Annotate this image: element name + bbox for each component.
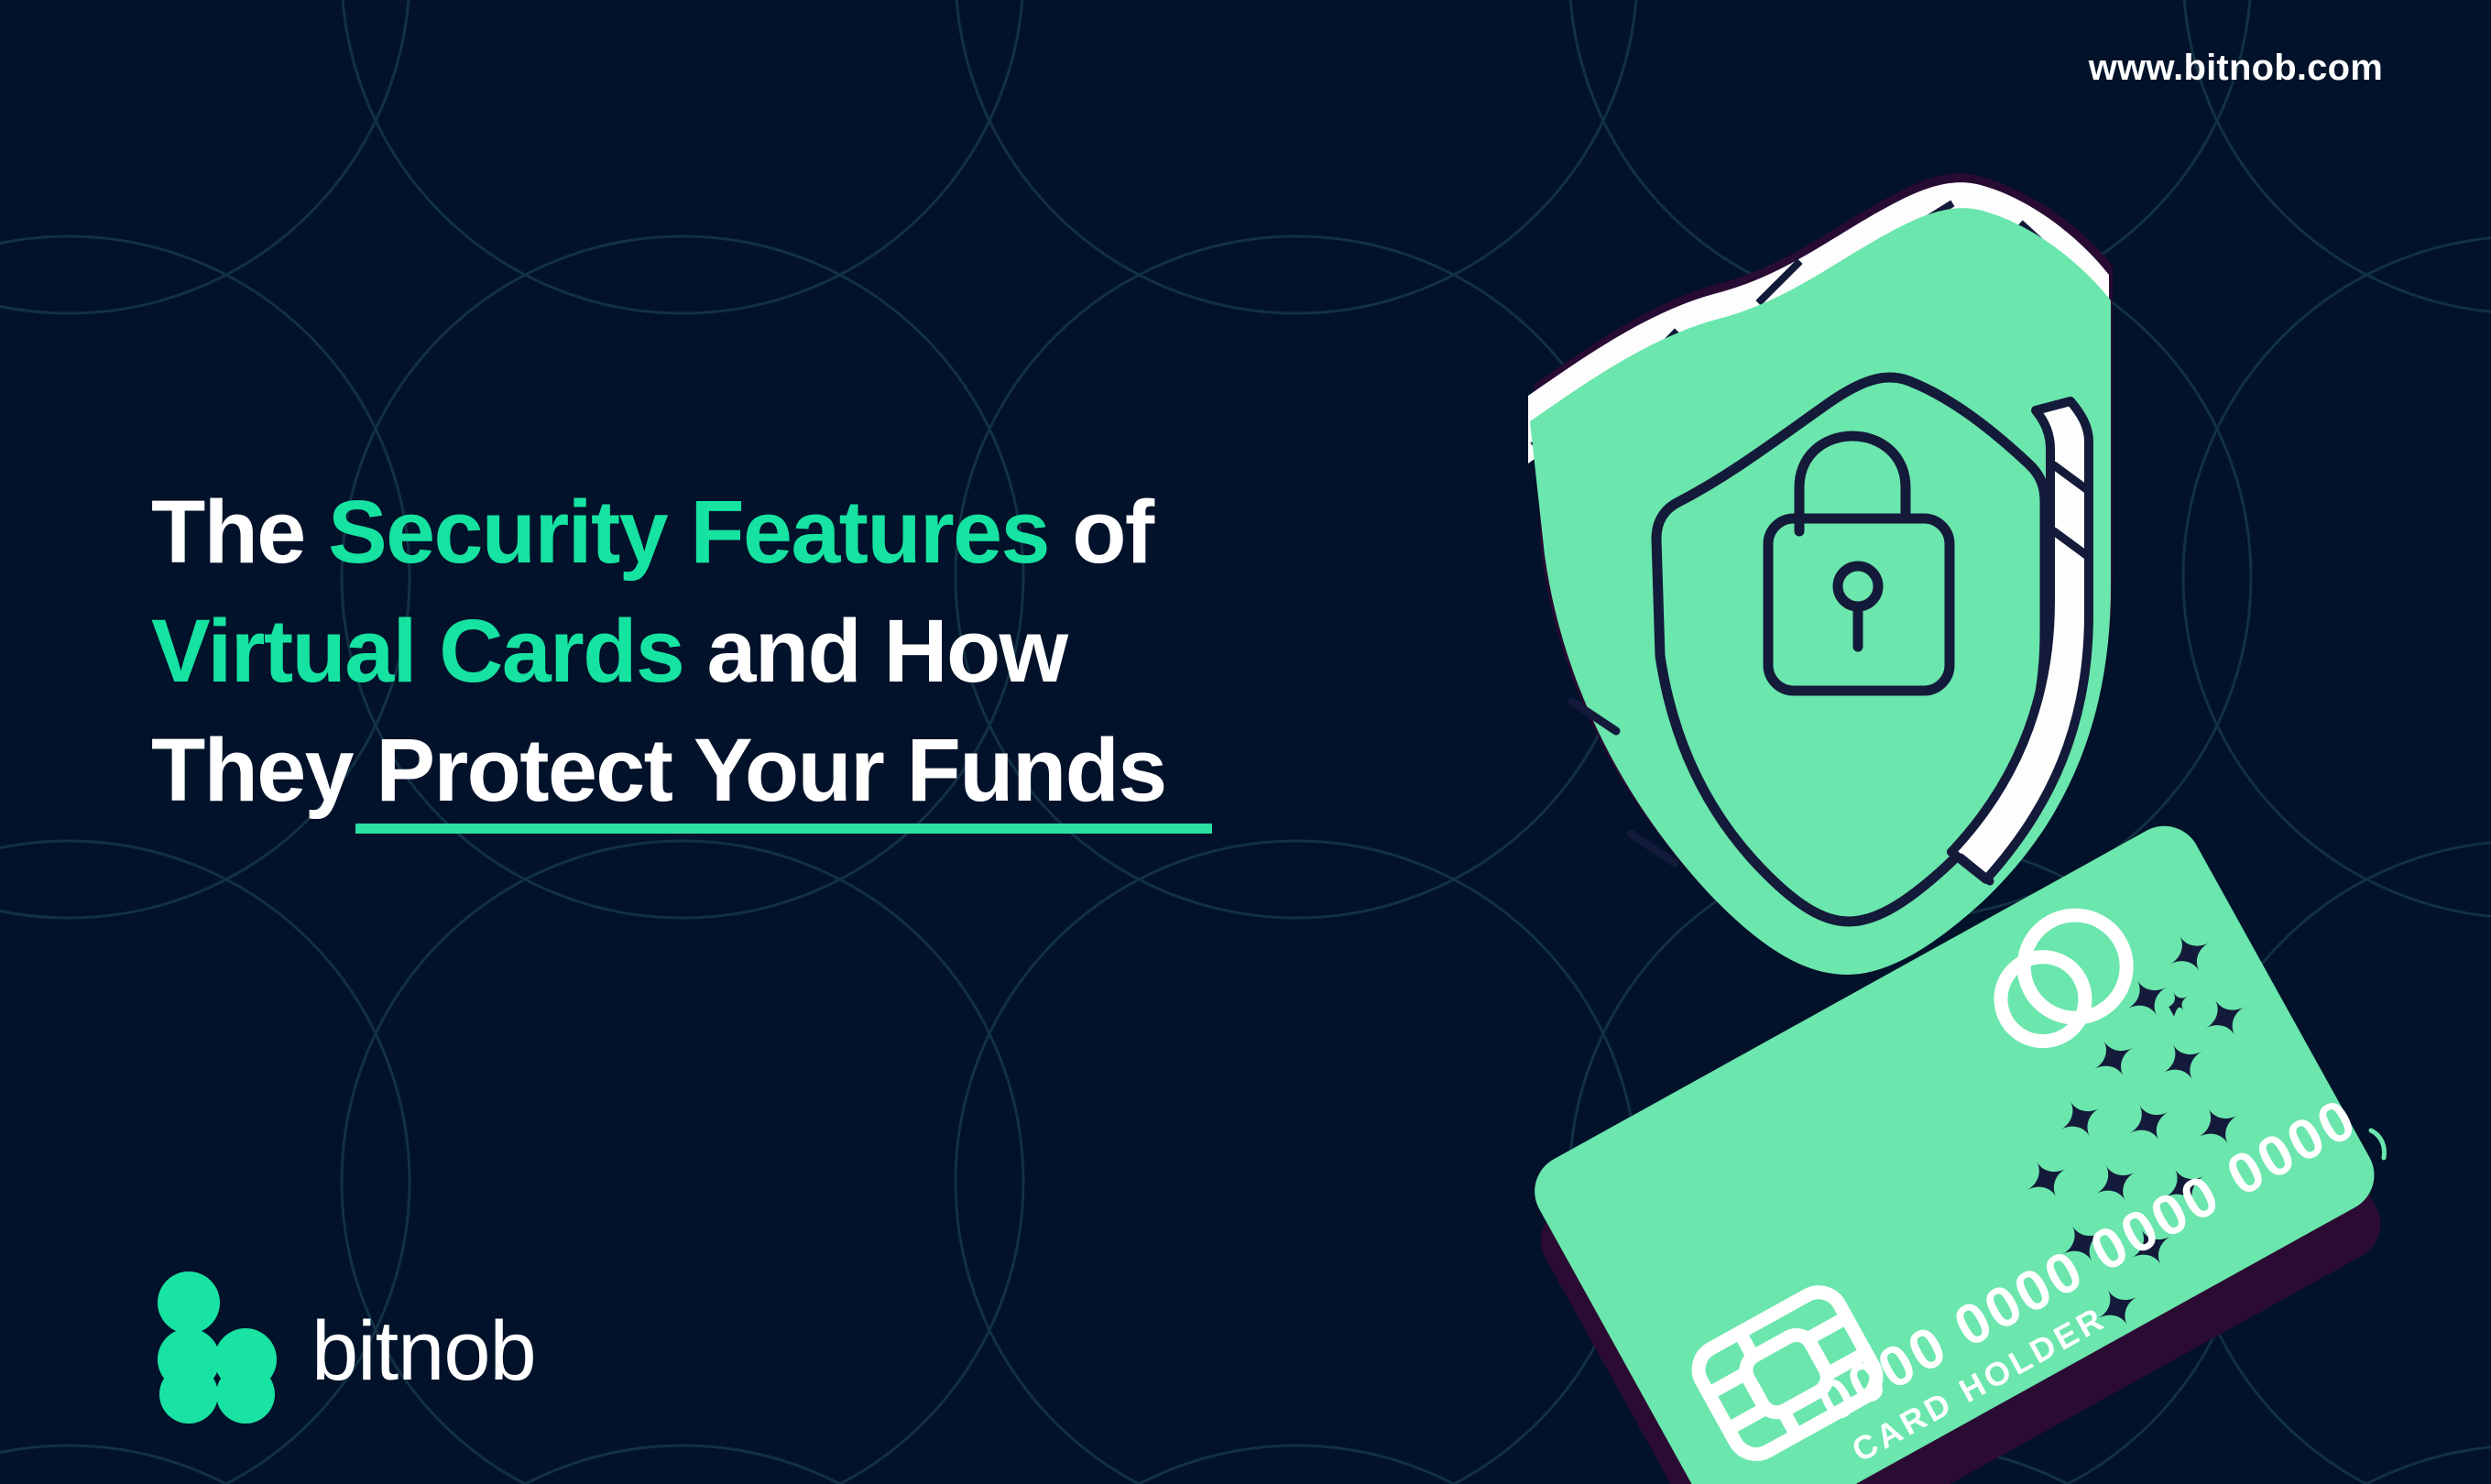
banner-canvas: www.bitnob.com The Security Features of …	[0, 0, 2491, 1484]
headline-line-2: Virtual Cards and How	[151, 592, 1296, 711]
headline-underline-rule	[355, 824, 1212, 834]
headline-line-3: They Protect Your Funds	[151, 711, 1296, 830]
headline-line-1-lead: The	[151, 482, 328, 582]
site-url-label: www.bitnob.com	[2089, 48, 2383, 89]
headline-line-2-tail: and How	[683, 601, 1066, 701]
headline-line-1-tail: of	[1049, 482, 1153, 582]
headline-line-2-accent: Virtual Cards	[151, 601, 683, 701]
headline-line-1: The Security Features of	[151, 473, 1296, 592]
page-title: The Security Features of Virtual Cards a…	[151, 473, 1296, 830]
bitnob-logo[interactable]: bitnob	[147, 1271, 536, 1424]
bitnob-dots-mark	[147, 1271, 273, 1424]
virtual-card-illustration: 0000 0000 0000 0000 CARD HOLDER	[1557, 953, 2491, 1484]
bitnob-wordmark: bitnob	[311, 1309, 536, 1393]
headline-line-1-accent: Security Features	[328, 482, 1049, 582]
